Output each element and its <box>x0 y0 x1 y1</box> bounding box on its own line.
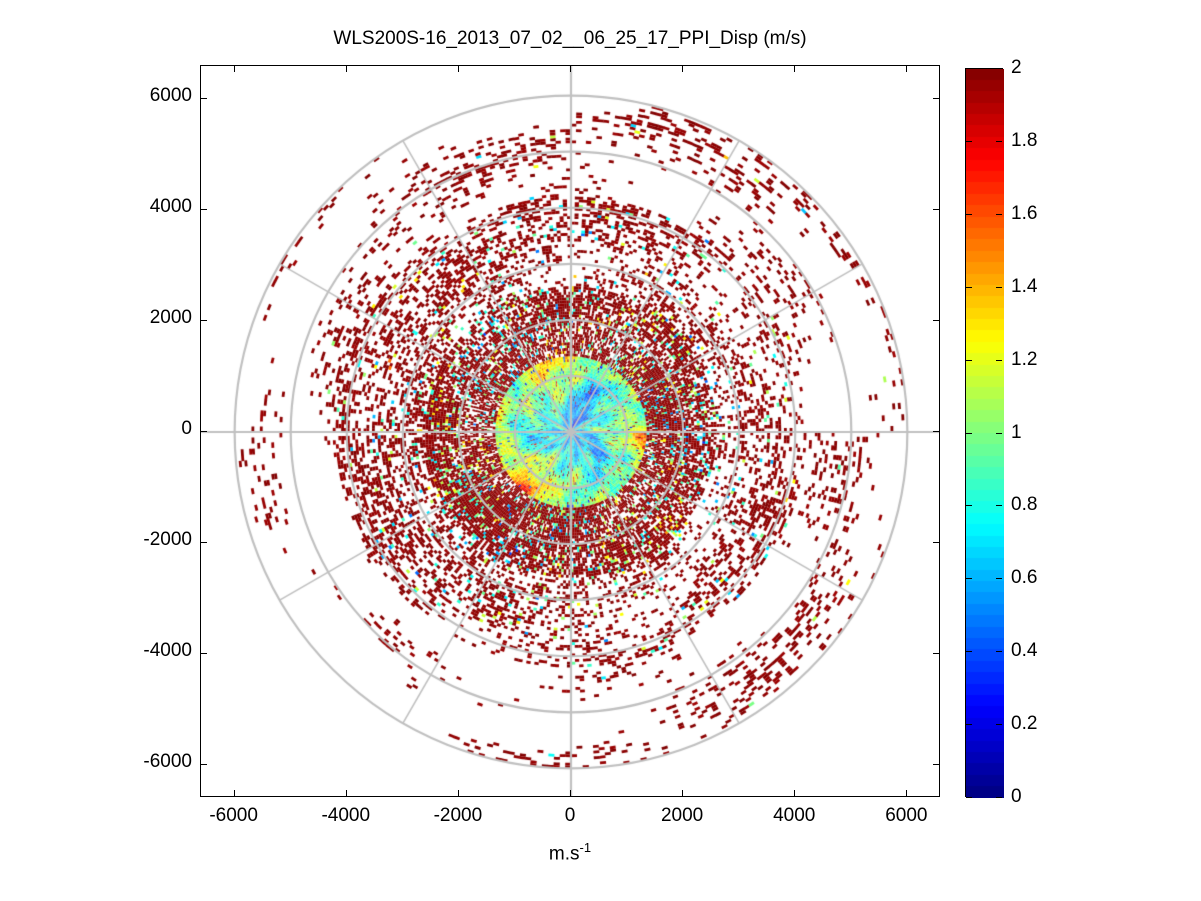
x-axis-title-exponent: -1 <box>580 840 592 855</box>
colorbar-ticklabel: 1 <box>1011 422 1022 444</box>
y-tick <box>200 320 207 321</box>
colorbar-tick <box>996 505 1002 506</box>
x-tick <box>906 65 907 72</box>
colorbar-ticklabel: 1.6 <box>1011 203 1037 225</box>
x-tick <box>570 65 571 72</box>
y-tick <box>200 542 207 543</box>
colorbar-tick <box>996 651 1002 652</box>
colorbar-tick <box>966 287 972 288</box>
y-tick <box>933 98 940 99</box>
x-tick <box>906 790 907 797</box>
x-ticklabel: 0 <box>510 805 630 827</box>
x-ticklabel: -2000 <box>398 805 518 827</box>
colorbar-ticklabel: 0.2 <box>1011 713 1037 735</box>
colorbar-ticklabel: 0.6 <box>1011 567 1037 589</box>
colorbar-tick <box>966 68 972 69</box>
x-tick <box>682 790 683 797</box>
colorbar-tick <box>966 433 972 434</box>
colorbar-tick <box>996 214 1002 215</box>
x-tick <box>794 65 795 72</box>
y-tick <box>933 653 940 654</box>
y-tick <box>200 98 207 99</box>
x-axis-title-base: m.s <box>549 843 580 864</box>
colorbar-ticklabel: 2 <box>1011 57 1022 79</box>
x-tick <box>234 790 235 797</box>
y-tick <box>933 542 940 543</box>
colorbar-tick <box>966 214 972 215</box>
y-tick <box>933 764 940 765</box>
colorbar-ticklabel: 1.2 <box>1011 349 1037 371</box>
colorbar-tick <box>996 360 1002 361</box>
x-tick <box>794 790 795 797</box>
y-tick <box>200 431 207 432</box>
colorbar-ticklabel: 1.4 <box>1011 276 1037 298</box>
colorbar-tick <box>996 287 1002 288</box>
x-tick <box>234 65 235 72</box>
x-ticklabel: -4000 <box>286 805 406 827</box>
colorbar-tick <box>996 433 1002 434</box>
x-ticklabel: -6000 <box>174 805 294 827</box>
colorbar-ticklabels: 00.20.40.60.811.21.41.61.82 <box>965 68 1085 797</box>
y-tick <box>933 431 940 432</box>
y-tick <box>933 320 940 321</box>
colorbar-tick <box>996 68 1002 69</box>
y-tick <box>200 209 207 210</box>
y-tick <box>933 209 940 210</box>
colorbar-tick <box>966 724 972 725</box>
colorbar-tick <box>966 360 972 361</box>
colorbar-ticklabel: 1.8 <box>1011 130 1037 152</box>
colorbar-tick <box>996 797 1002 798</box>
x-tick <box>570 790 571 797</box>
x-tick <box>458 65 459 72</box>
y-tick <box>200 653 207 654</box>
colorbar-tick <box>996 578 1002 579</box>
colorbar-tick <box>966 651 972 652</box>
x-ticklabel: 6000 <box>846 805 966 827</box>
x-tick <box>346 65 347 72</box>
colorbar-ticklabel: 0.4 <box>1011 640 1037 662</box>
x-ticklabel: 4000 <box>734 805 854 827</box>
colorbar-ticklabel: 0 <box>1011 786 1022 808</box>
colorbar-ticklabel: 0.8 <box>1011 494 1037 516</box>
colorbar-tick <box>966 141 972 142</box>
colorbar-tick <box>966 505 972 506</box>
y-tick <box>200 764 207 765</box>
x-ticklabel: 2000 <box>622 805 742 827</box>
x-axis-title: m.s-1 <box>200 840 940 865</box>
colorbar-tick <box>966 578 972 579</box>
colorbar-tick <box>996 724 1002 725</box>
x-tick <box>458 790 459 797</box>
colorbar-tick <box>996 141 1002 142</box>
figure-canvas: WLS200S-16_2013_07_02__06_25_17_PPI_Disp… <box>0 0 1201 901</box>
colorbar-tick <box>966 797 972 798</box>
x-tick <box>346 790 347 797</box>
x-tick <box>682 65 683 72</box>
